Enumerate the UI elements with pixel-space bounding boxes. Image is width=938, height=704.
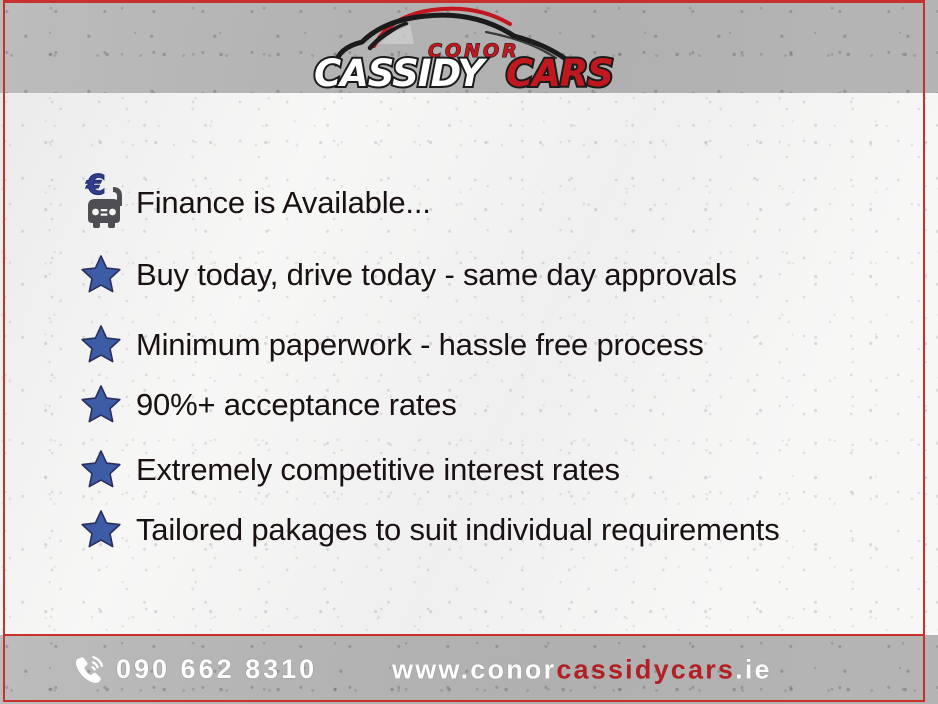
star-icon [80, 508, 136, 550]
website-suffix: .ie [735, 654, 772, 684]
phone-ringing-icon [72, 653, 106, 687]
list-item-label: Finance is Available... [136, 187, 431, 218]
brand-logo[interactable]: CONOR CASSIDY CARS [310, 2, 640, 92]
phone-contact[interactable]: 090 662 8310 [72, 653, 317, 687]
list-item: Tailored pakages to suit individual requ… [80, 508, 780, 550]
list-item: Buy today, drive today - same day approv… [80, 253, 737, 295]
list-item: 90%+ acceptance rates [80, 383, 457, 425]
star-icon [80, 253, 136, 295]
list-item: Extremely competitive interest rates [80, 448, 620, 490]
list-item-label: Minimum paperwork - hassle free process [136, 329, 704, 360]
logo-main-word: CASSIDY [314, 52, 487, 92]
phone-number: 090 662 8310 [116, 654, 317, 685]
website-brand: cassidycars [556, 654, 735, 684]
star-icon [80, 383, 136, 425]
list-item-label: Extremely competitive interest rates [136, 454, 620, 485]
star-icon [80, 323, 136, 365]
website-url[interactable]: www.conorcassidycars.ie [392, 654, 772, 685]
list-item: Minimum paperwork - hassle free process [80, 323, 704, 365]
star-icon [80, 448, 136, 490]
list-item-label: Tailored pakages to suit individual requ… [136, 514, 780, 545]
list-item-label: 90%+ acceptance rates [136, 389, 457, 420]
body-band: € Finance is Available... [0, 93, 938, 635]
website-prefix: www.conor [392, 654, 556, 684]
finance-car-euro-icon: € [80, 173, 136, 231]
footer-band: 090 662 8310 www.conorcassidycars.ie [0, 635, 938, 704]
logo-second-word: CARS [506, 52, 613, 92]
advert-poster: € Finance is Available... [0, 0, 938, 704]
svg-text:€: € [85, 173, 105, 201]
list-item-label: Buy today, drive today - same day approv… [136, 259, 737, 290]
bullet-list: € Finance is Available... [0, 93, 938, 635]
list-item: € Finance is Available... [80, 173, 431, 231]
